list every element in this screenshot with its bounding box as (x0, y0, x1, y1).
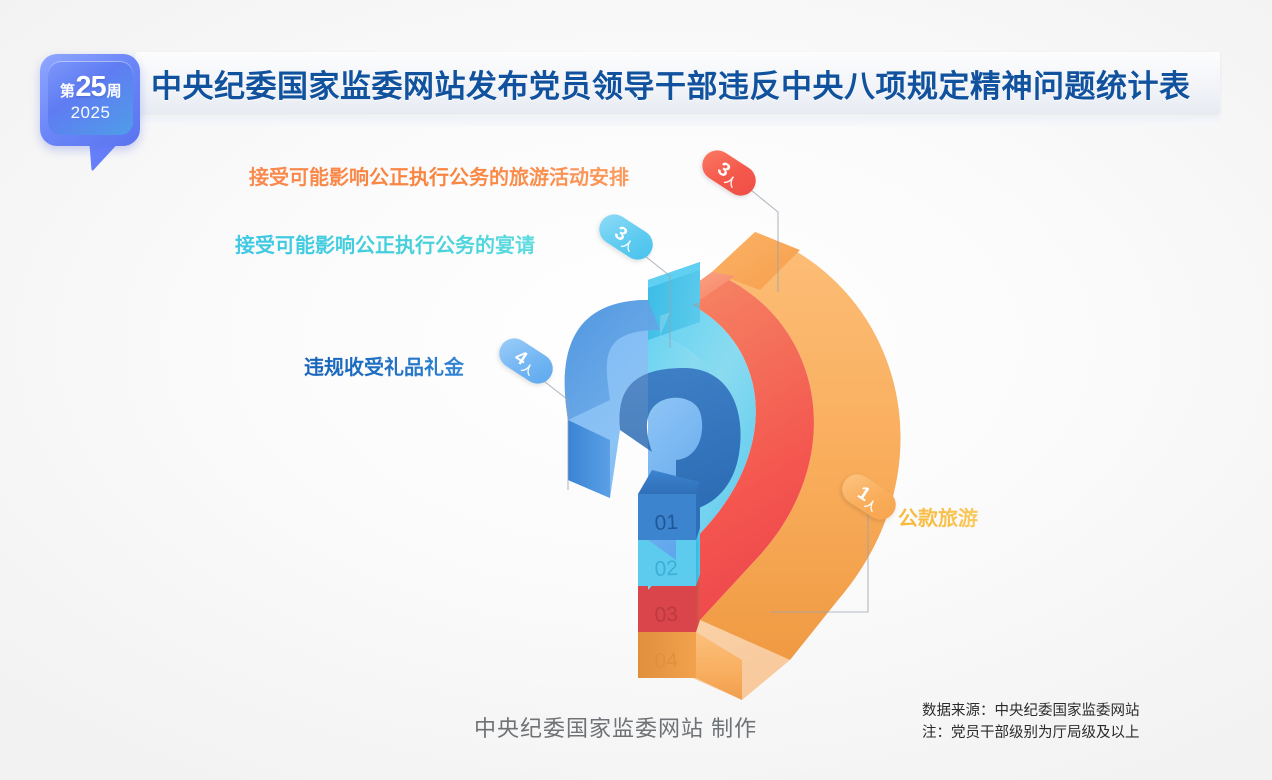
level-note: 注：党员干部级别为厅局级及以上 (922, 722, 1140, 744)
category-label-04: 公款旅游 (898, 502, 978, 531)
connector-line-01 (540, 378, 568, 490)
week-prefix-label: 第 (60, 84, 75, 99)
segment-code-04: 04 (654, 649, 679, 673)
week-badge: 第 25 周 2025 (40, 54, 148, 159)
segment-code-01: 01 (654, 511, 679, 535)
week-badge-inner: 第 25 周 2025 (48, 61, 133, 135)
segment-code-03: 03 (654, 603, 679, 627)
footer-notes: 数据来源：中央纪委国家监委网站 注：党员干部级别为厅局级及以上 (922, 700, 1140, 745)
week-badge-line: 第 25 周 (60, 73, 121, 102)
week-suffix-label: 周 (107, 84, 122, 99)
category-label-02: 接受可能影响公正执行公务的宴请 (235, 229, 535, 258)
maker-credit: 中央纪委国家监委网站 制作 (474, 711, 757, 743)
segment-code-02: 02 (654, 557, 679, 581)
infographic-canvas: 第 25 周 2025 中央纪委国家监委网站发布党员领导干部违反中央八项规定精神… (0, 0, 1272, 780)
category-label-01: 违规收受礼品礼金 (304, 351, 464, 380)
category-label-03: 接受可能影响公正执行公务的旅游活动安排 (249, 161, 629, 190)
week-year-label: 2025 (71, 103, 111, 123)
week-number-label: 25 (75, 73, 105, 102)
data-source-note: 数据来源：中央纪委国家监委网站 (922, 700, 1140, 722)
spiral-chart: 04 03 02 (0, 0, 1272, 780)
